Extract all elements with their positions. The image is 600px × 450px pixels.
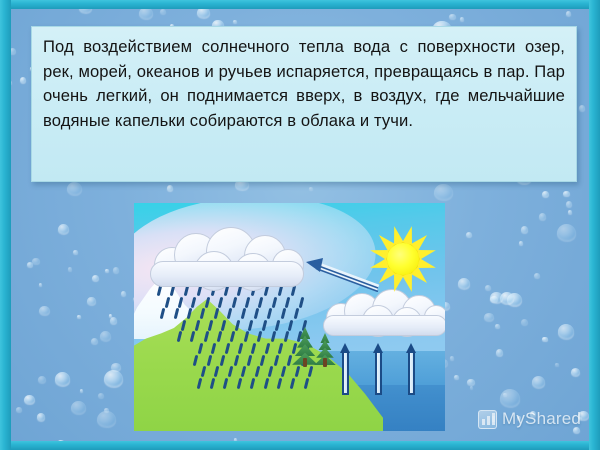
water-drop-icon: [104, 370, 123, 387]
water-drop-icon: [233, 20, 237, 24]
water-drop-icon: [39, 306, 49, 315]
water-drop-icon: [563, 191, 569, 197]
water-drop-icon: [532, 376, 545, 388]
slide-canvas: Под воздействием солнечного тепла вода с…: [0, 0, 600, 450]
water-drop-icon: [495, 324, 500, 328]
frame-border-right: [589, 0, 600, 450]
water-drop-icon: [470, 386, 473, 389]
water-drop-icon: [519, 241, 523, 244]
water-drop-icon: [568, 210, 572, 213]
water-drop-icon: [458, 278, 470, 289]
water-drop-icon: [92, 275, 99, 281]
water-drop-icon: [121, 291, 127, 296]
water-drop-icon: [87, 297, 95, 304]
water-drop-icon: [110, 317, 117, 323]
caption-textbox: Под воздействием солнечного тепла вода с…: [31, 26, 577, 182]
arrow-shaft: [408, 352, 415, 395]
water-drop-icon: [503, 393, 506, 396]
water-drop-icon: [113, 267, 120, 273]
evaporation-arrow-icon: [406, 343, 417, 395]
water-drop-icon: [100, 331, 112, 341]
water-drop-icon: [566, 11, 572, 16]
water-drop-icon: [500, 389, 521, 407]
arrow-shaft: [342, 352, 349, 395]
water-drop-icon: [71, 401, 86, 414]
water-drop-icon: [16, 407, 22, 412]
water-drop-icon: [37, 413, 46, 421]
water-drop-icon: [309, 187, 313, 191]
water-drop-icon: [555, 363, 558, 366]
water-drop-icon: [68, 267, 72, 271]
evaporation-arrow-icon: [340, 343, 351, 395]
water-drop-icon: [55, 372, 71, 386]
water-drop-icon: [566, 201, 572, 207]
myshared-watermark: MyShared: [478, 409, 581, 429]
water-drop-icon: [20, 77, 26, 83]
water-drop-icon: [98, 393, 104, 398]
water-drop-icon: [104, 408, 109, 412]
water-drop-icon: [67, 182, 82, 195]
arrow-head: [373, 343, 383, 353]
water-drop-icon: [109, 314, 113, 317]
water-drop-icon: [557, 224, 576, 241]
frame-border-left: [0, 0, 11, 450]
water-drop-icon: [454, 375, 459, 379]
water-drop-icon: [571, 368, 580, 376]
arrow-shaft: [375, 352, 382, 395]
water-drop-icon: [496, 349, 503, 355]
water-drop-icon: [73, 250, 78, 254]
water-drop-icon: [467, 379, 474, 385]
frame-border-top: [0, 0, 600, 9]
water-drop-icon: [450, 356, 455, 360]
watermark-label: MyShared: [502, 409, 581, 429]
water-drop-icon: [579, 105, 585, 110]
evaporation-arrow-icon: [373, 343, 384, 395]
water-drop-icon: [97, 411, 115, 427]
water-drop-icon: [542, 191, 549, 197]
water-drop-icon: [507, 293, 522, 307]
arrow-head: [340, 343, 350, 353]
water-drop-icon: [39, 283, 43, 286]
water-drop-icon: [466, 232, 472, 237]
water-drop-icon: [24, 395, 35, 405]
water-drop-icon: [434, 184, 452, 200]
water-drop-icon: [542, 337, 547, 342]
water-drop-icon: [80, 389, 83, 392]
water-drop-icon: [105, 269, 109, 272]
water-drop-icon: [539, 213, 546, 219]
frame-border-bottom: [0, 441, 600, 450]
water-drop-icon: [460, 17, 464, 20]
water-drop-icon: [485, 285, 491, 290]
water-drop-icon: [160, 9, 166, 15]
water-drop-icon: [139, 7, 153, 19]
water-drop-icon: [490, 292, 503, 304]
water-drop-icon: [167, 185, 173, 190]
water-drop-icon: [558, 324, 575, 339]
water-drop-icon: [58, 224, 69, 234]
caption-paragraph: Под воздействием солнечного тепла вода с…: [43, 35, 565, 133]
water-drop-icon: [534, 273, 540, 278]
water-drop-icon: [449, 14, 455, 19]
water-cycle-illustration: [134, 203, 445, 431]
water-drop-icon: [32, 258, 40, 265]
water-drop-icon: [484, 313, 493, 321]
water-drop-icon: [111, 363, 120, 371]
water-drop-icon: [38, 376, 46, 383]
arrow-head: [406, 343, 416, 353]
water-drop-icon: [500, 292, 514, 304]
water-drop-icon: [27, 262, 33, 267]
water-drop-icon: [521, 226, 528, 233]
water-drop-icon: [490, 296, 498, 303]
water-drop-icon: [77, 315, 81, 319]
sun-icon: [369, 225, 437, 293]
presentation-board-icon: [478, 410, 497, 429]
water-drop-icon: [91, 338, 98, 344]
water-drop-icon: [521, 319, 528, 325]
